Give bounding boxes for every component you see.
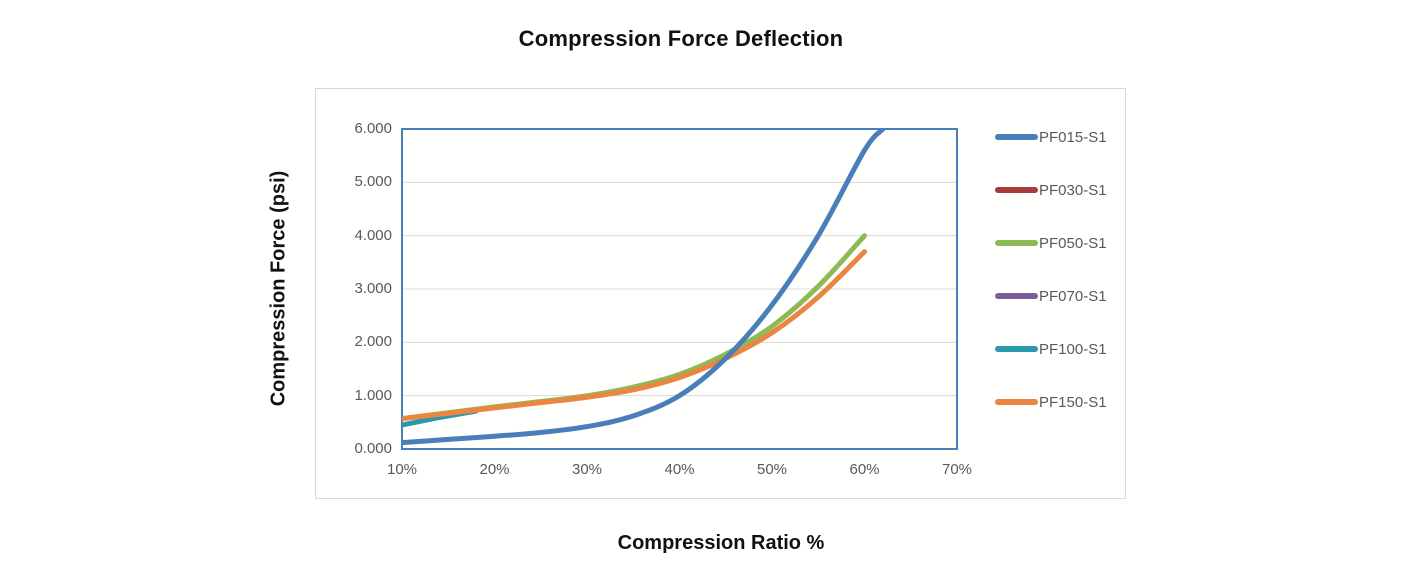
legend-swatch-icon	[995, 293, 1038, 299]
legend-item-pf100-s1[interactable]: PF100-S1	[995, 340, 1107, 358]
x-axis-tick-label: 70%	[929, 461, 985, 478]
y-axis-title: Compression Force (psi)	[261, 118, 297, 458]
legend-item-pf050-s1[interactable]: PF050-S1	[995, 234, 1107, 252]
y-axis-tick-label: 2.000	[326, 333, 392, 350]
legend-label: PF050-S1	[1039, 235, 1107, 252]
x-axis-tick-label: 40%	[652, 461, 708, 478]
x-axis-title: Compression Ratio %	[315, 532, 1127, 555]
legend-swatch-icon	[995, 187, 1038, 193]
y-axis-tick-label: 5.000	[326, 173, 392, 190]
legend-label: PF150-S1	[1039, 394, 1107, 411]
x-axis-tick-label: 20%	[467, 461, 523, 478]
legend-item-pf150-s1[interactable]: PF150-S1	[995, 393, 1107, 411]
legend-swatch-icon	[995, 399, 1038, 405]
x-axis-tick-label: 50%	[744, 461, 800, 478]
legend-item-pf015-s1[interactable]: PF015-S1	[995, 128, 1107, 146]
page-title: Compression Force Deflection	[0, 26, 1362, 52]
x-axis-tick-label: 60%	[837, 461, 893, 478]
y-axis-title-text: Compression Force (psi)	[268, 170, 291, 406]
x-axis-tick-label: 30%	[559, 461, 615, 478]
chart-page: Compression Force Deflection Compression…	[0, 0, 1408, 576]
y-axis-tick-label: 6.000	[326, 120, 392, 137]
legend-item-pf070-s1[interactable]: PF070-S1	[995, 287, 1107, 305]
x-axis-tick-label: 10%	[374, 461, 430, 478]
legend-swatch-icon	[995, 134, 1038, 140]
legend-label: PF070-S1	[1039, 288, 1107, 305]
y-axis-tick-label: 3.000	[326, 280, 392, 297]
y-axis-tick-label: 1.000	[326, 387, 392, 404]
y-axis-tick-label: 4.000	[326, 227, 392, 244]
legend-item-pf030-s1[interactable]: PF030-S1	[995, 181, 1107, 199]
legend-label: PF100-S1	[1039, 341, 1107, 358]
legend-swatch-icon	[995, 240, 1038, 246]
legend-swatch-icon	[995, 346, 1038, 352]
y-axis-tick-label: 0.000	[326, 440, 392, 457]
legend-label: PF030-S1	[1039, 182, 1107, 199]
legend-label: PF015-S1	[1039, 129, 1107, 146]
